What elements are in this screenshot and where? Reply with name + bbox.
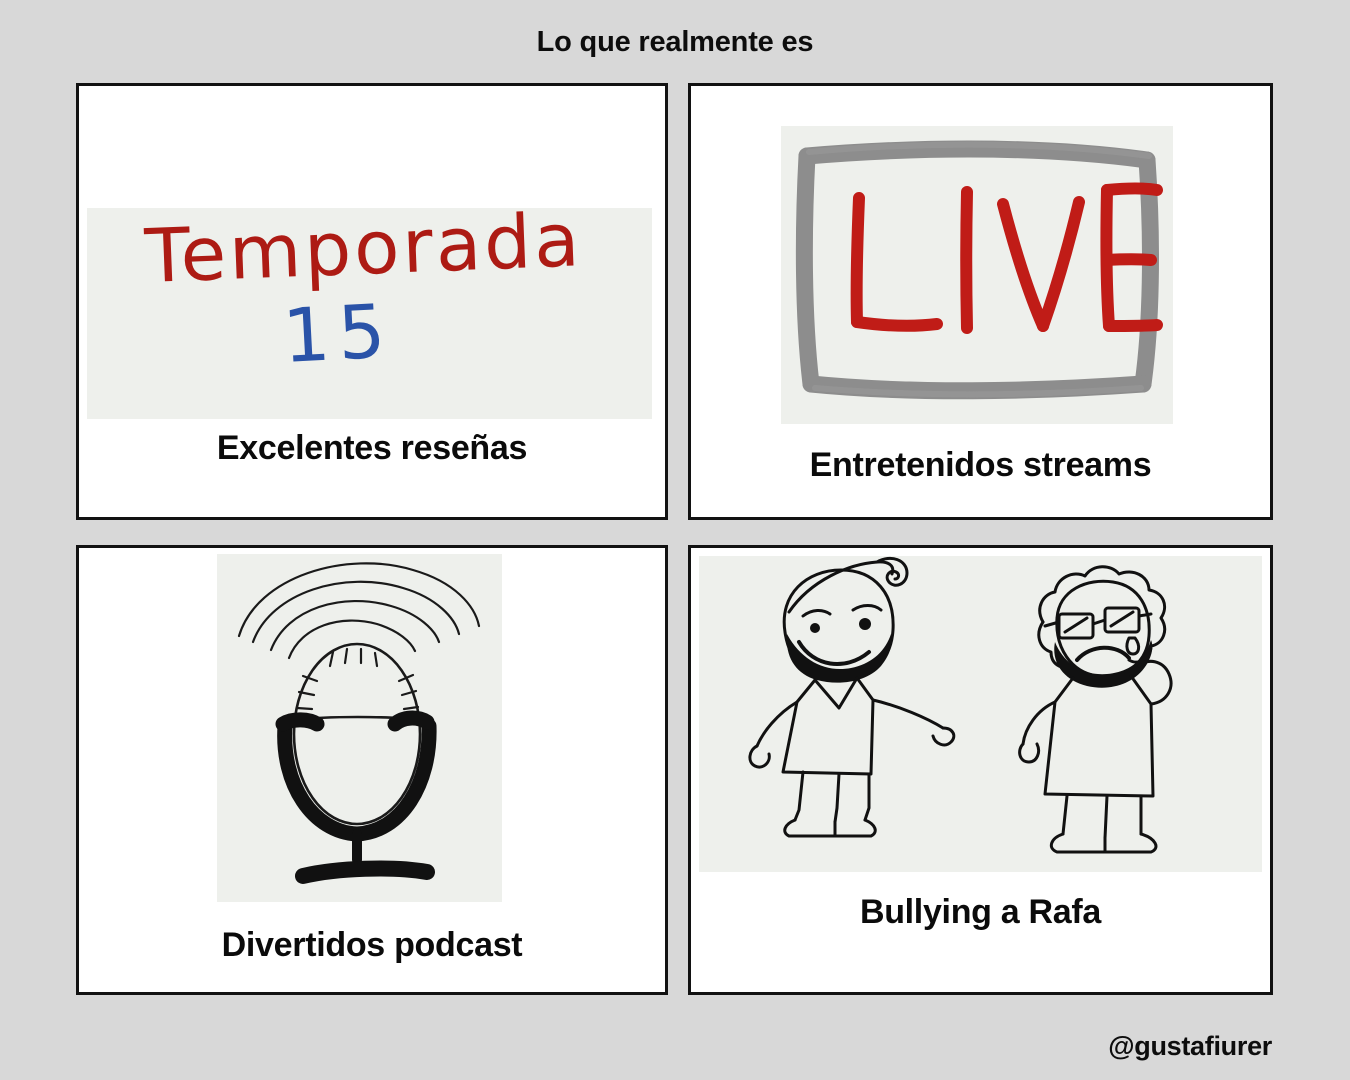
microphone-svg bbox=[217, 554, 502, 902]
live-sign-svg bbox=[781, 126, 1173, 424]
panel-podcast: Divertidos podcast bbox=[76, 545, 668, 995]
page-title: Lo que realmente es bbox=[0, 26, 1350, 59]
panel-caption: Bullying a Rafa bbox=[691, 893, 1270, 932]
temporada-15-handwriting: Temporada 15 bbox=[87, 208, 652, 419]
microphone-drawing bbox=[217, 554, 502, 902]
panel-bullying: Bullying a Rafa bbox=[688, 545, 1273, 995]
crying-character-with-glasses bbox=[1020, 567, 1171, 852]
temporada-text: Temporada bbox=[143, 208, 584, 300]
panel-caption: Excelentes reseñas bbox=[79, 429, 665, 468]
two-characters-drawing bbox=[699, 556, 1262, 872]
smug-bearded-character bbox=[750, 558, 954, 836]
panel-caption: Entretenidos streams bbox=[691, 446, 1270, 485]
panel-grid: Temporada 15 Excelentes reseñas bbox=[76, 83, 1273, 995]
characters-svg bbox=[699, 556, 1262, 872]
live-sign-drawing bbox=[781, 126, 1173, 424]
watermark-handle: @gustafiurer bbox=[1108, 1031, 1272, 1062]
panel-temporada: Temporada 15 Excelentes reseñas bbox=[76, 83, 668, 520]
microphone-head bbox=[294, 644, 420, 824]
season-number-text: 15 bbox=[281, 288, 396, 380]
panel-live: Entretenidos streams bbox=[688, 83, 1273, 520]
panel-caption: Divertidos podcast bbox=[79, 926, 665, 965]
microphone-stand bbox=[283, 718, 429, 876]
